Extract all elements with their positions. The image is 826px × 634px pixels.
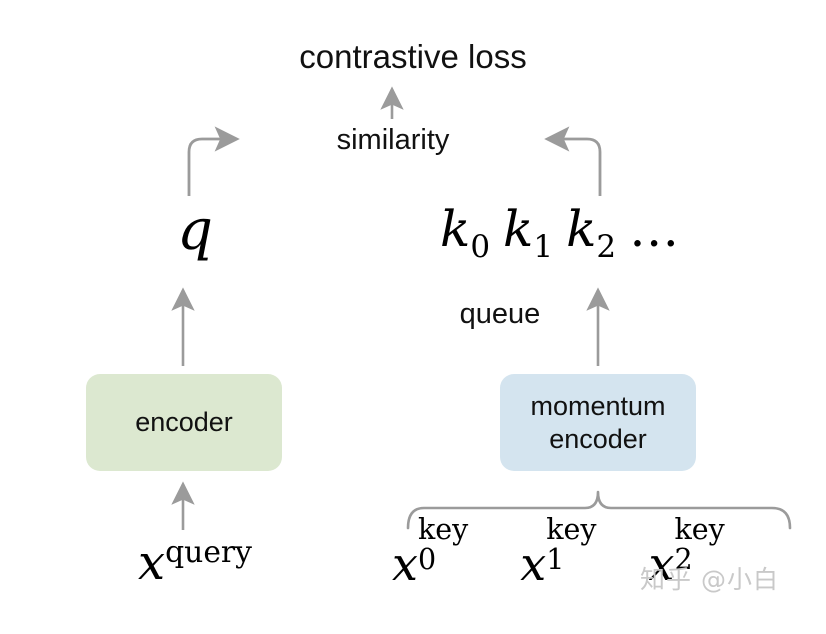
momentum-encoder-label-line1: momentum [530,391,665,421]
key-input-0: xkey0 [392,534,512,591]
encoder-box-label: encoder [135,406,233,439]
momentum-encoder-box-label: momentum encoder [530,390,665,456]
query-representation-symbol: q [140,198,250,263]
key-representation-0: k0 [440,200,490,265]
key-input-1: xkey1 [520,534,640,591]
momentum-encoder-label-line2: encoder [549,424,647,454]
encoder-box[interactable]: encoder [86,374,282,471]
key-representations-ellipsis: … [629,200,680,258]
zhihu-watermark: 知乎 @小白 [640,560,779,596]
similarity-label: similarity [228,123,558,157]
query-input-symbol: xquery [95,535,295,591]
key-representations: k0k1k2… [440,200,760,265]
queue-label: queue [380,297,620,331]
key-representation-1: k1 [503,200,553,265]
query-input-superscript: query [165,535,252,570]
contrastive-loss-label: contrastive loss [0,38,826,77]
key-representation-2: k2 [566,200,616,265]
moco-diagram: contrastive loss similarity queue q k0k1… [0,0,826,634]
momentum-encoder-box[interactable]: momentum encoder [500,374,696,471]
